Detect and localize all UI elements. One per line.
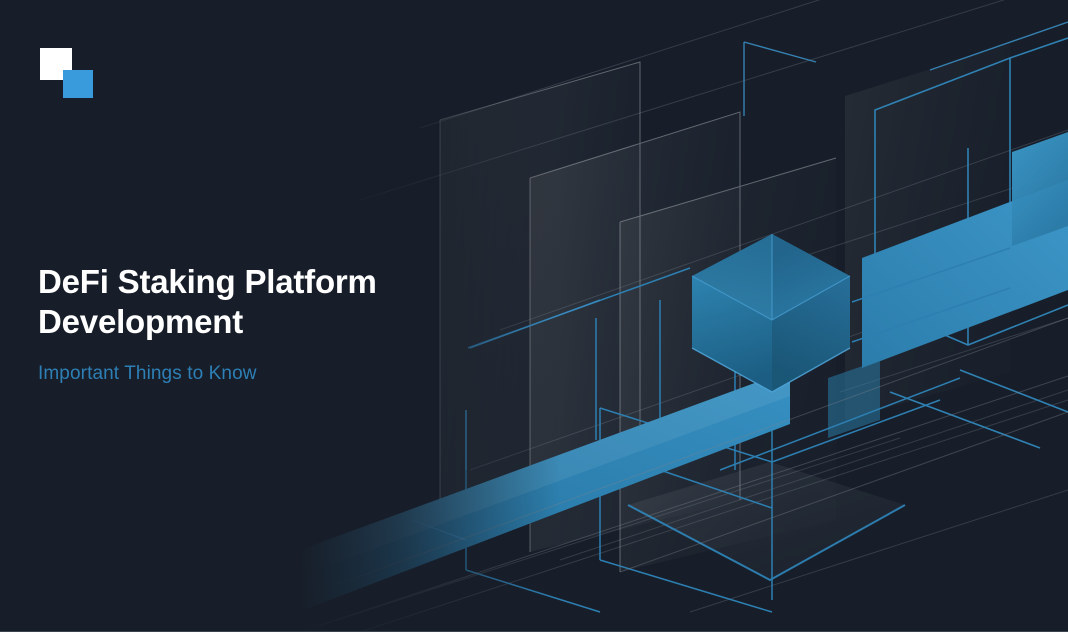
headline-block: DeFi Staking Platform Development Import…	[38, 262, 468, 385]
right-edge-blue-slab	[1012, 132, 1068, 246]
slide-root: DeFi Staking Platform Development Import…	[0, 0, 1068, 632]
brand-logo[interactable]	[40, 48, 94, 98]
page-subtitle: Important Things to Know	[38, 363, 468, 386]
logo-square-blue-icon	[63, 70, 93, 98]
page-title: DeFi Staking Platform Development	[38, 262, 468, 343]
